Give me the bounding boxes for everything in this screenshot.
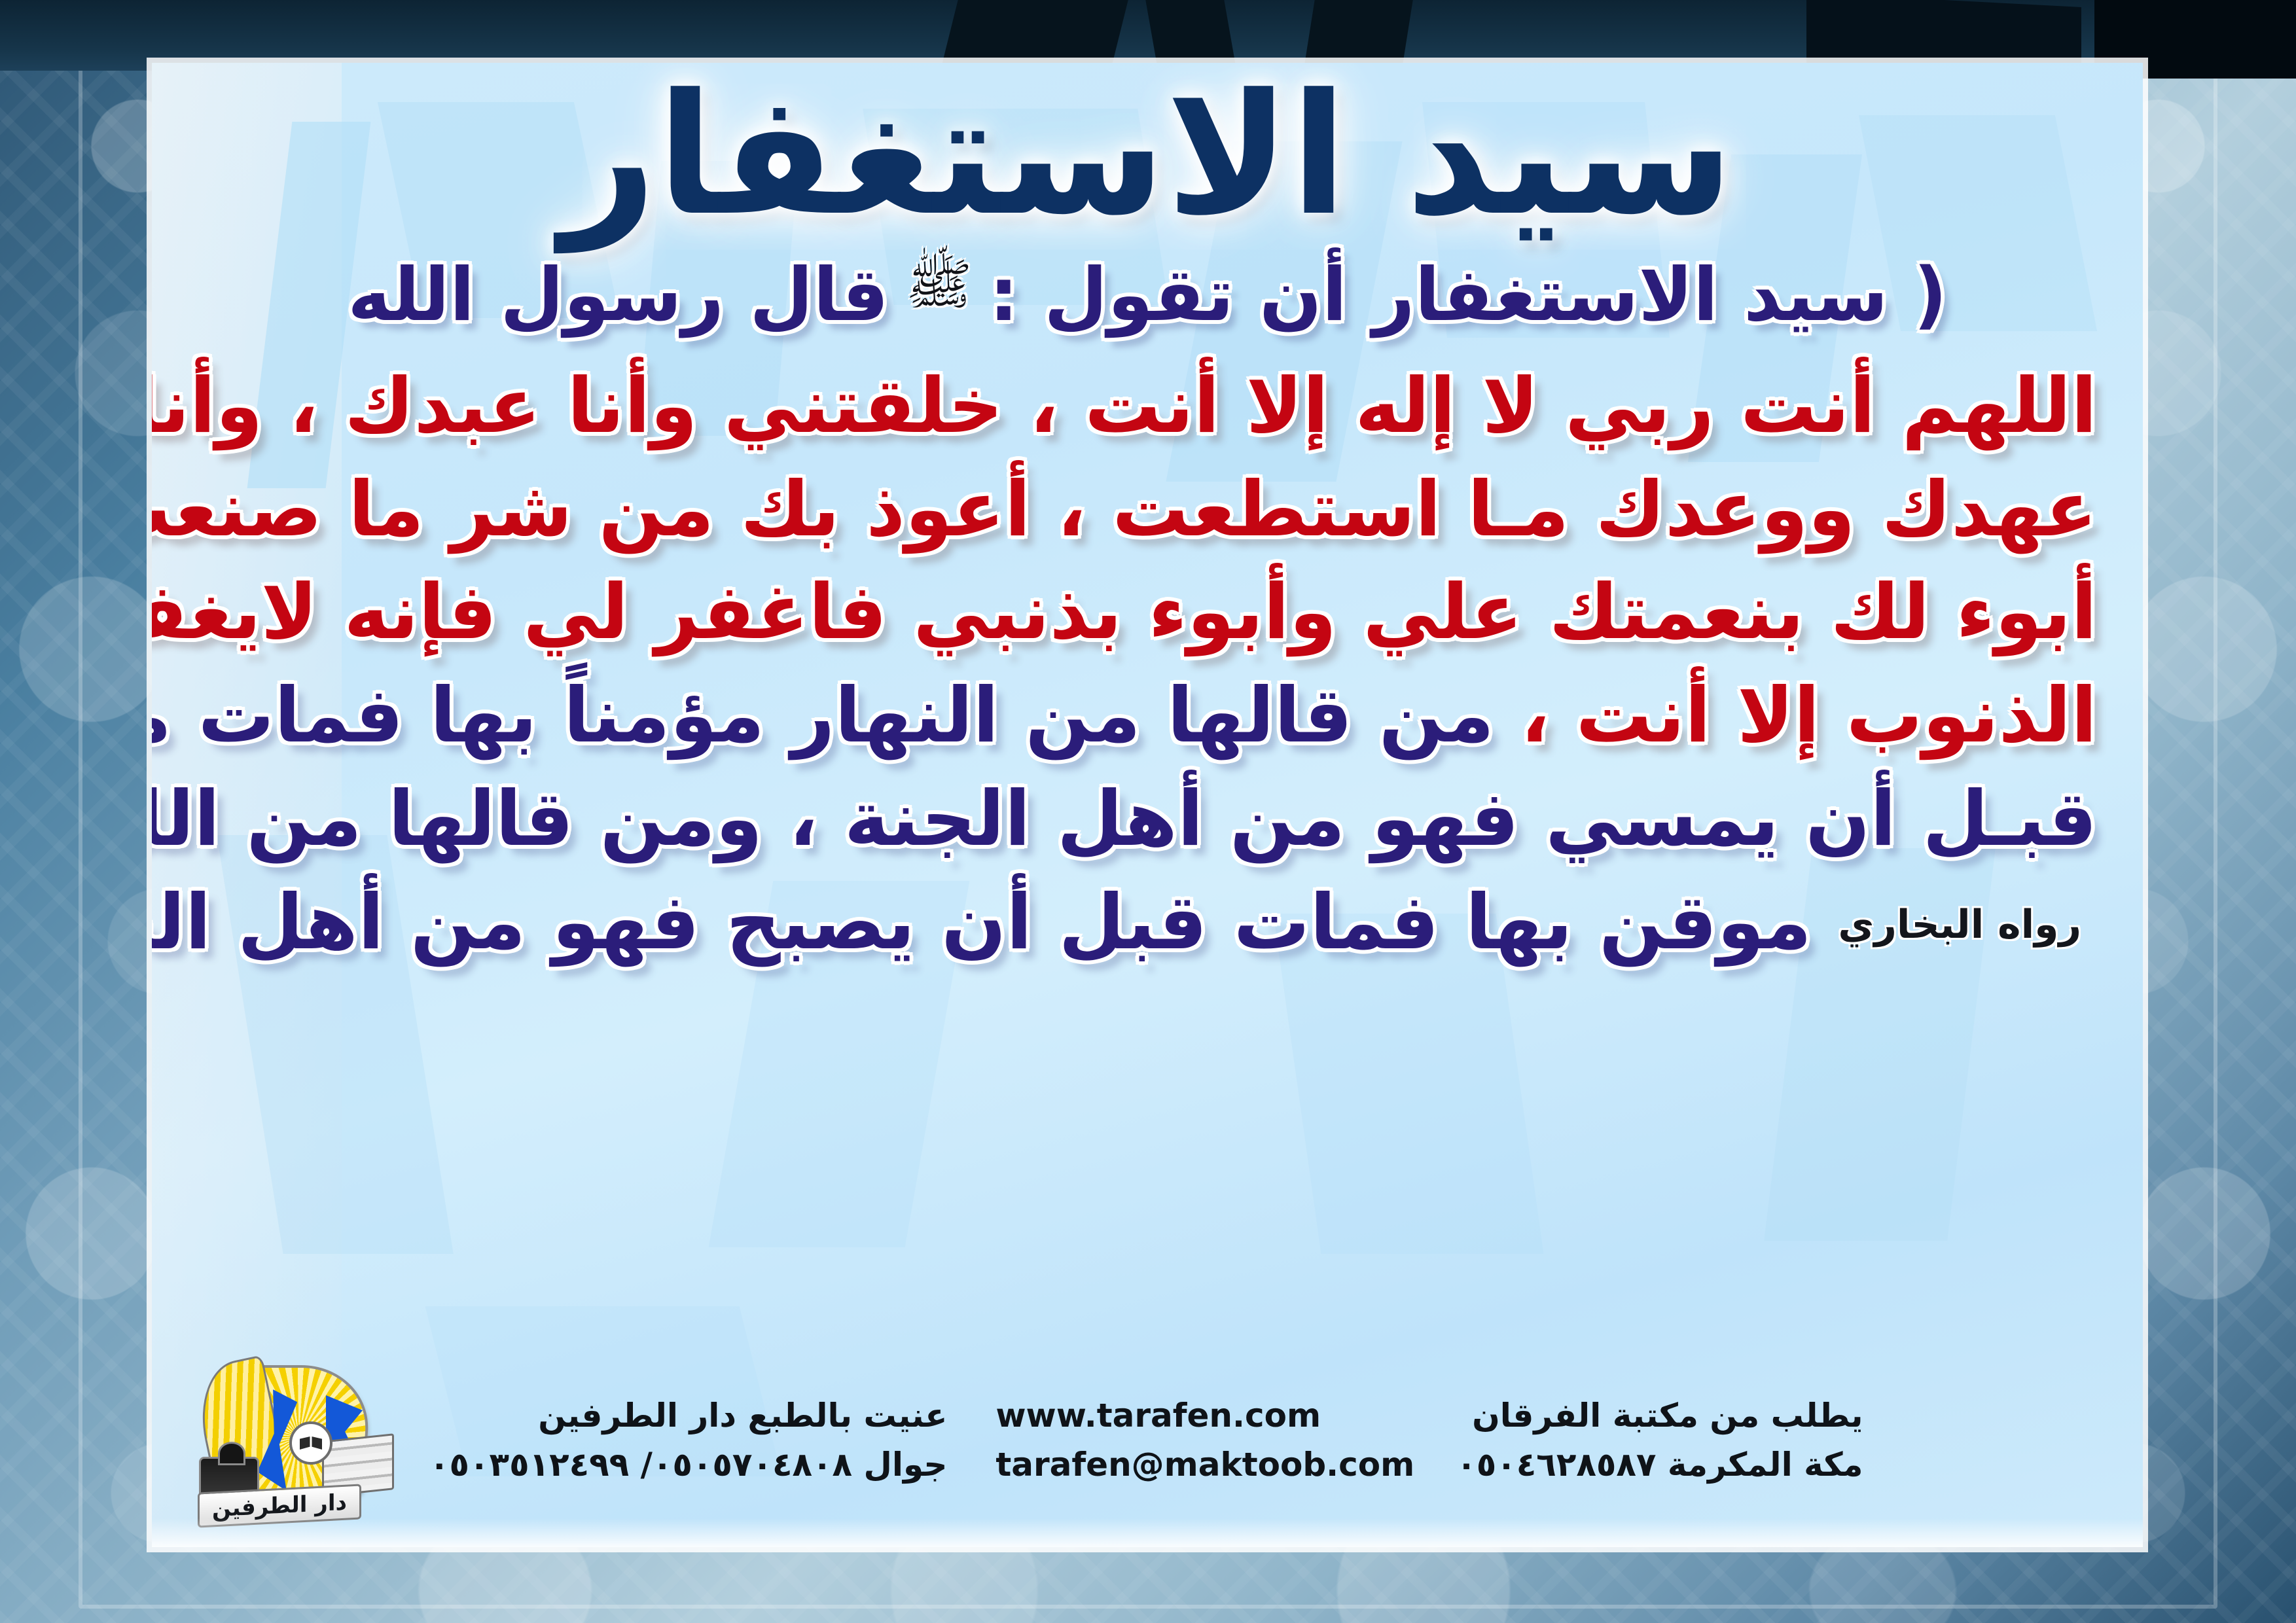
publisher-phone: جوال ٠٥٠٥٧٠٤٨٠٨/ ٠٥٠٣٥١٢٤٩٩ — [429, 1440, 947, 1489]
publisher-name: عنيت بالطبع دار الطرفين — [429, 1391, 947, 1440]
open-book-icon — [289, 1421, 332, 1465]
hadith-line-navy-part: من قالها من النهار مؤمناً بها فمات من يو… — [152, 671, 1494, 760]
poster-card: سيد الاستغفار ( سيد الاستغفار أن تقول : … — [152, 63, 2143, 1547]
card-bottom-glow — [152, 1518, 2143, 1547]
email-link[interactable]: tarafen@maktoob.com — [996, 1440, 1414, 1489]
distributor-info: يطلب من مكتبة الفرقان مكة المكرمة ٠٥٠٤٦٢… — [1456, 1391, 1863, 1489]
intro-row: ( سيد الاستغفار أن تقول : ﷺ قال رسول الل… — [198, 253, 2097, 338]
shadow-shard — [1145, 0, 1236, 72]
sallallahu-alayhi-wasallam-icon: ﷺ — [906, 251, 972, 330]
publisher-info: عنيت بالطبع دار الطرفين جوال ٠٥٠٥٧٠٤٨٠٨/… — [429, 1391, 947, 1489]
shadow-shard — [940, 0, 1128, 72]
hadith-line: عهدك ووعدك مـا استطعت ، أعوذ بك من شر ما… — [198, 458, 2097, 562]
hadith-line-last: رواه البخاري موقن بها فمات قبل أن يصبح ف… — [198, 871, 2097, 974]
distributor-name: يطلب من مكتبة الفرقان — [1456, 1391, 1863, 1440]
distributor-address-phone: مكة المكرمة ٠٥٠٤٦٢٨٥٨٧ — [1456, 1440, 1863, 1489]
hadith-body: اللهم أنت ربي لا إله إلا أنت ، خلقتني وأ… — [198, 355, 2097, 974]
hadith-line-red-part: الذنوب إلا أنت ، — [1520, 671, 2097, 760]
website-link[interactable]: www.tarafen.com — [996, 1391, 1414, 1440]
footer: دار الطرفين عنيت بالطبع دار الطرفين جوال… — [198, 1359, 2097, 1522]
publisher-logo: دار الطرفين — [198, 1359, 387, 1522]
hadith-line-mixed: الذنوب إلا أنت ، من قالها من النهار مؤمن… — [152, 671, 2097, 760]
poster-root: سيد الاستغفار ( سيد الاستغفار أن تقول : … — [0, 0, 2296, 1623]
contact-info: www.tarafen.com tarafen@maktoob.com — [996, 1391, 1414, 1489]
hadith-line: أبوء لك بنعمتك علي وأبوء بذنبي فاغفر لي … — [198, 561, 2097, 664]
card-content: سيد الاستغفار ( سيد الاستغفار أن تقول : … — [152, 68, 2143, 1547]
shadow-shard — [1303, 0, 1412, 72]
hadith-line: قبـل أن يمسي فهو من أهل الجنة ، ومن قاله… — [198, 768, 2097, 871]
hadith-source-reference: رواه البخاري — [1838, 902, 2081, 948]
hadith-line-text: موقن بها فمات قبل أن يصبح فهو من أهل الج… — [152, 878, 1812, 967]
page-title: سيد الاستغفار — [198, 68, 2097, 243]
intro-prefix: قال رسول الله — [348, 253, 889, 338]
hadith-line: اللهم أنت ربي لا إله إلا أنت ، خلقتني وأ… — [198, 355, 2097, 458]
intro-suffix: ( سيد الاستغفار أن تقول : — [989, 253, 1947, 338]
